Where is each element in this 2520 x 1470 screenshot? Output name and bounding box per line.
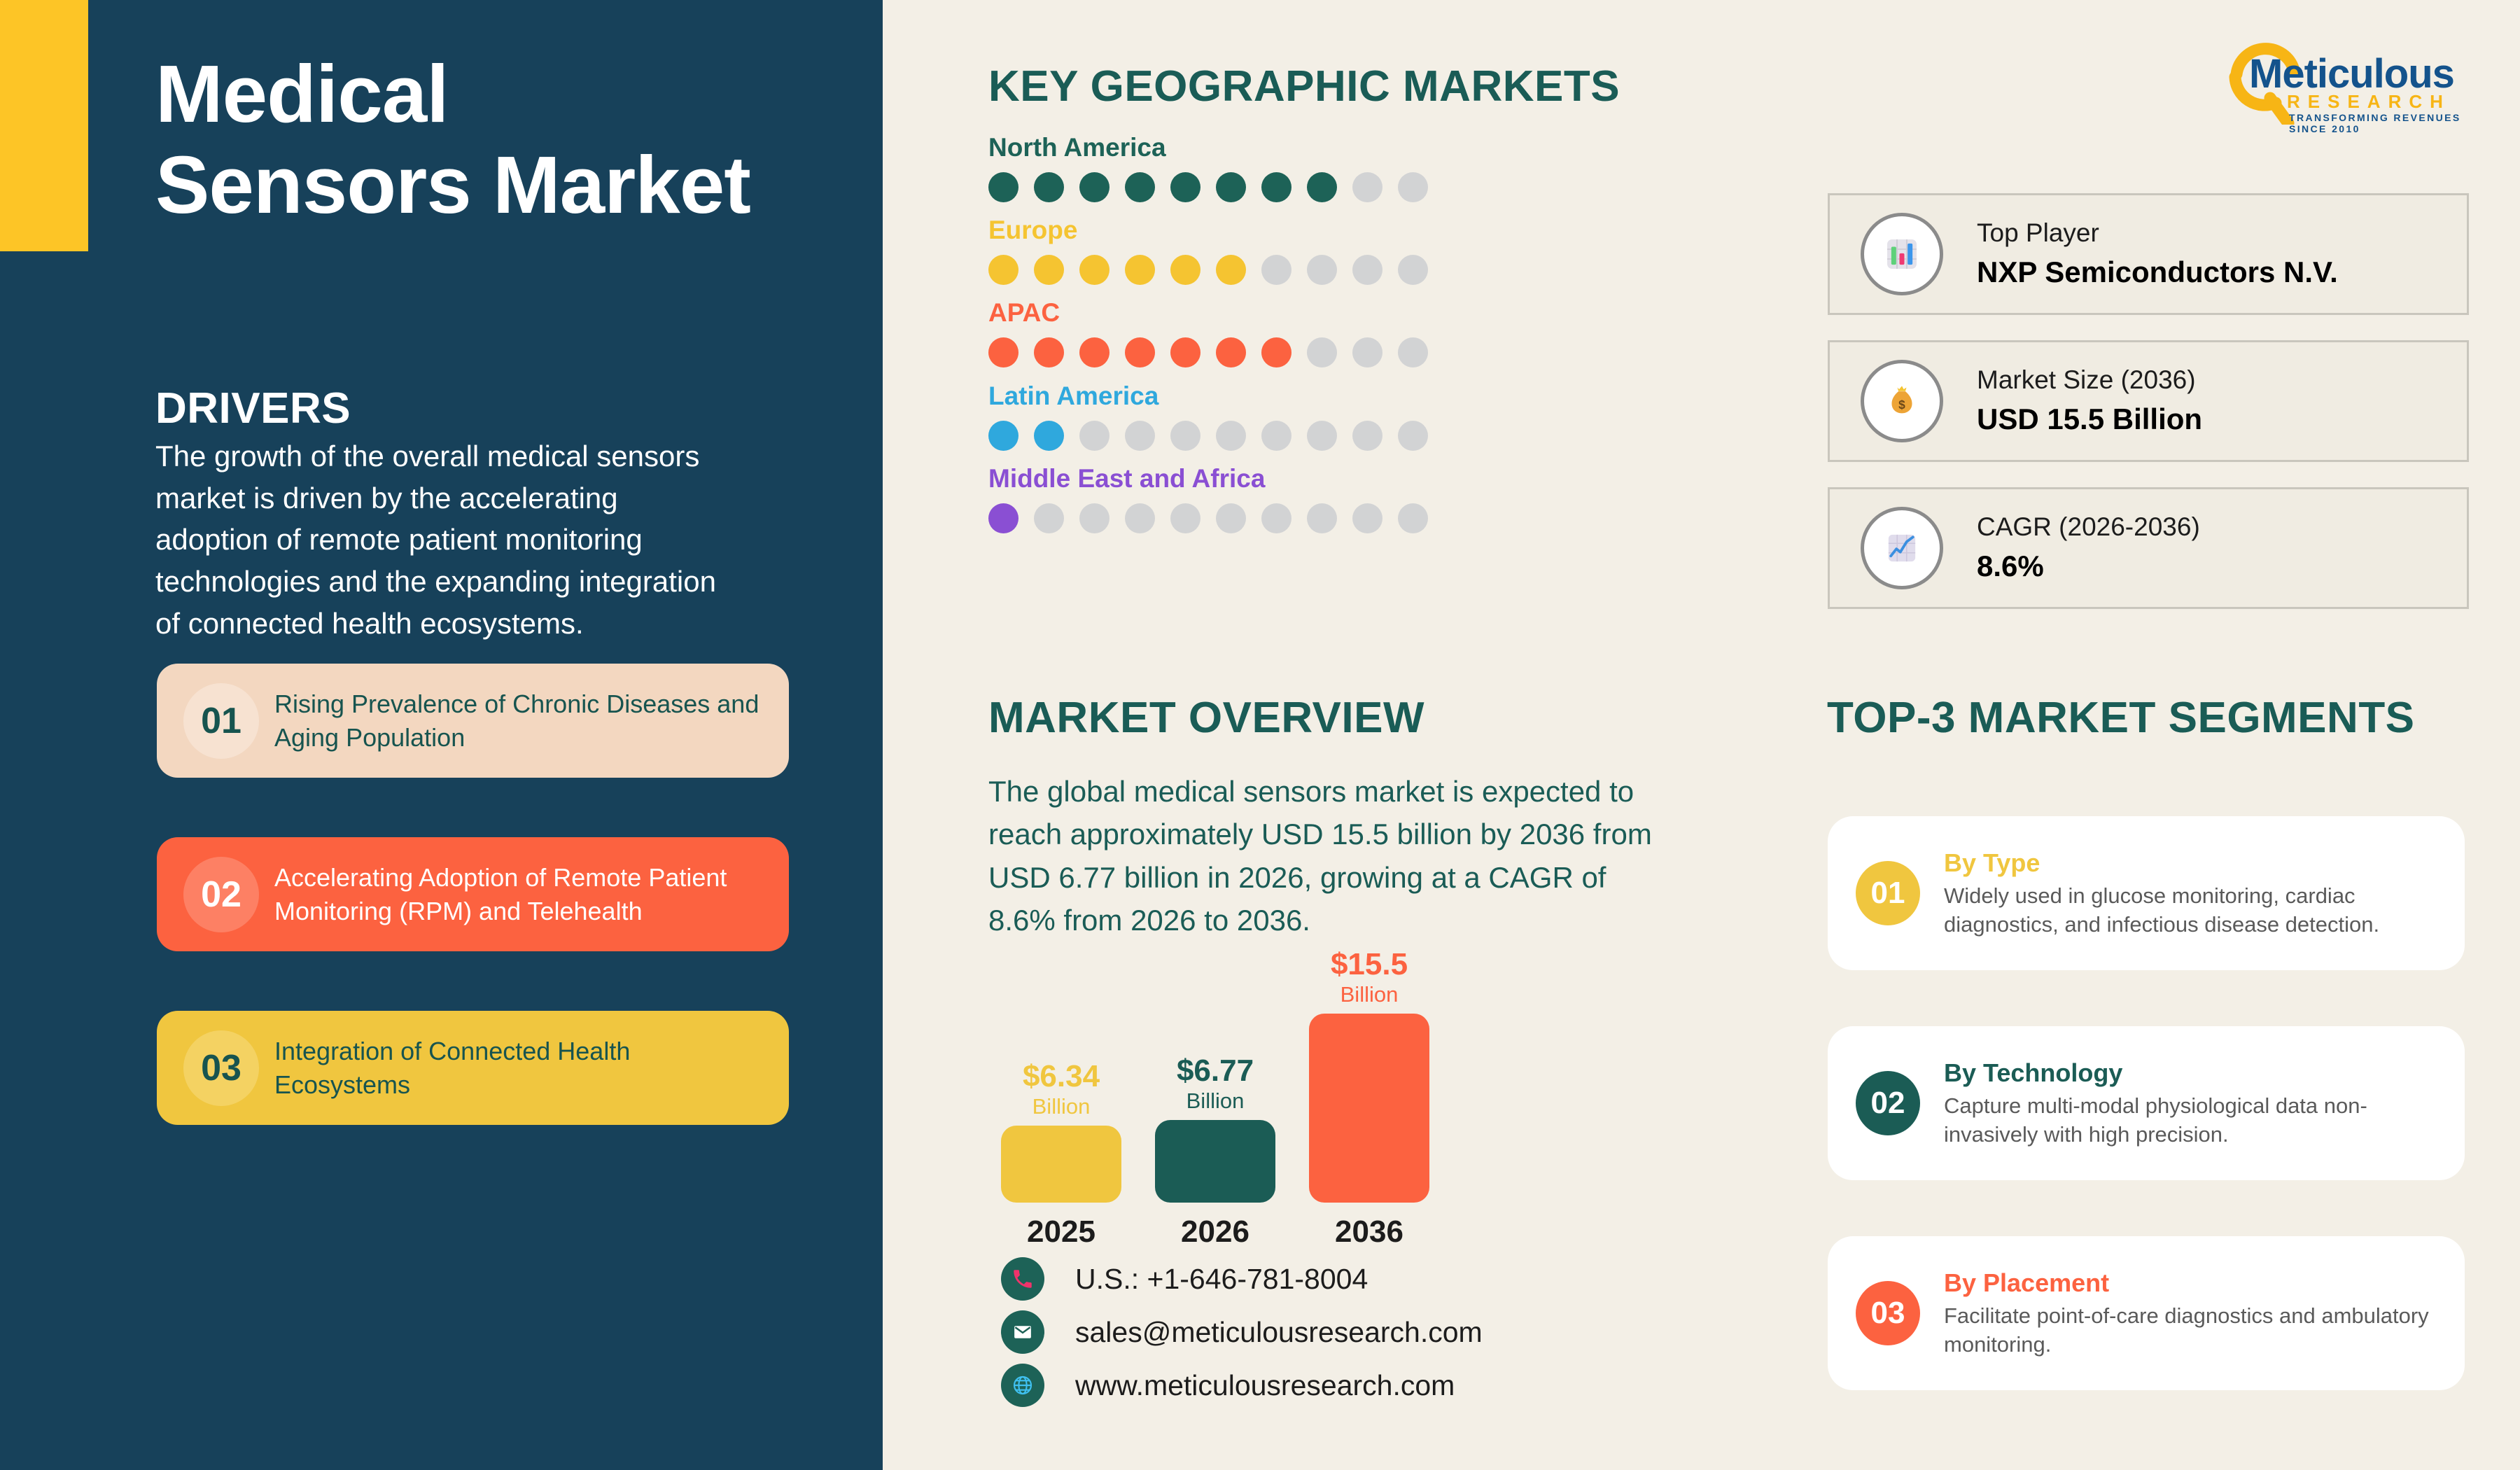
region-label: Latin America [988,381,1618,411]
region-label: APAC [988,298,1618,328]
phone-icon [1001,1257,1044,1301]
region-block-apac: APAC [988,298,1618,367]
stat-card-cagr[interactable]: CAGR (2026-2036) 8.6% [1828,487,2469,609]
contact-email-text: sales@meticulousresearch.com [1075,1316,1483,1349]
stat-card-market-size[interactable]: $ Market Size (2036) USD 15.5 Billion [1828,340,2469,462]
dot-filled [1216,255,1246,285]
region-block-latin-america: Latin America [988,381,1618,451]
segment-card-01[interactable]: 01By TypeWidely used in glucose monitori… [1828,816,2465,970]
stat-value-cagr: 8.6% [1977,547,2200,586]
bar-unit: Billion [1177,1090,1254,1112]
dot-filled [1125,255,1155,285]
driver-number-2: 02 [183,857,259,932]
contact-phone[interactable]: U.S.: +1-646-781-8004 [1001,1257,1368,1301]
dot-empty [1352,172,1382,202]
bar [1001,1126,1121,1203]
dot-filled [988,172,1018,202]
stat-label-top-player: Top Player [1977,217,2338,249]
dot-filled [988,255,1018,285]
accent-bar [0,0,88,251]
bar-group: $6.34Billion [1001,1061,1121,1203]
region-dot-scale [988,421,1618,451]
bar-value: $6.77 [1177,1056,1254,1086]
region-block-europe: Europe [988,216,1618,285]
region-label: Middle East and Africa [988,464,1618,493]
mail-icon [1001,1310,1044,1354]
drivers-heading: DRIVERS [155,384,351,433]
bar-value: $6.34 [1023,1061,1100,1092]
dot-filled [1125,172,1155,202]
left-panel: Medical Sensors Market DRIVERS The growt… [0,0,883,1470]
segment-number: 02 [1856,1071,1920,1135]
svg-text:$: $ [1898,398,1905,412]
dot-empty [1398,503,1428,533]
dot-empty [1034,503,1064,533]
segment-card-03[interactable]: 03By PlacementFacilitate point-of-care d… [1828,1236,2465,1390]
segment-description: Widely used in glucose monitoring, cardi… [1944,882,2444,939]
segment-heading: By Type [1944,848,2444,878]
driver-text-3: Integration of Connected Health Ecosyste… [274,1035,769,1102]
segment-heading: By Placement [1944,1268,2444,1298]
contact-phone-text: U.S.: +1-646-781-8004 [1075,1263,1368,1296]
dot-empty [1352,503,1382,533]
dot-filled [1261,337,1291,367]
contact-website-text: www.meticulousresearch.com [1075,1369,1455,1402]
driver-card-1[interactable]: 01 Rising Prevalence of Chronic Diseases… [157,664,789,778]
bar-category-label: 2026 [1155,1214,1275,1249]
region-dot-scale [988,503,1618,533]
dot-filled [988,503,1018,533]
segment-number: 01 [1856,861,1920,925]
segment-card-02[interactable]: 02By TechnologyCapture multi-modal physi… [1828,1026,2465,1180]
money-bag-icon: $ [1861,360,1943,442]
stat-value-market-size: USD 15.5 Billion [1977,400,2202,439]
logo-tagline: TRANSFORMING REVENUES SINCE 2010 [2289,112,2474,134]
infographic-canvas: Medical Sensors Market DRIVERS The growt… [0,0,2520,1470]
meticulous-research-logo: Meticulous RESEARCH TRANSFORMING REVENUE… [2215,34,2474,125]
geographic-markets-title: KEY GEOGRAPHIC MARKETS [988,62,1620,111]
bar-chart-icon [1861,213,1943,295]
market-overview-text: The global medical sensors market is exp… [988,770,1660,941]
dot-empty [1307,421,1337,451]
dot-empty [1352,337,1382,367]
stat-text-cagr: CAGR (2026-2036) 8.6% [1977,511,2200,586]
driver-number-1: 01 [183,683,259,759]
bar-group: $6.77Billion [1155,1056,1275,1203]
bar-value: $15.5 [1331,949,1408,980]
bar-unit: Billion [1023,1095,1100,1117]
region-block-middle-east-and-africa: Middle East and Africa [988,464,1618,533]
bar-value-label: $6.77Billion [1177,1056,1254,1112]
dot-filled [1216,337,1246,367]
dot-filled [1034,172,1064,202]
dot-filled [1079,255,1109,285]
globe-icon [1001,1364,1044,1407]
bar-category-label: 2036 [1309,1214,1429,1249]
dot-empty [1307,255,1337,285]
stat-card-top-player[interactable]: Top Player NXP Semiconductors N.V. [1828,193,2469,315]
bar-group: $15.5Billion [1309,949,1429,1203]
stat-label-cagr: CAGR (2026-2036) [1977,511,2200,543]
segment-text: By PlacementFacilitate point-of-care dia… [1944,1268,2444,1359]
region-block-north-america: North America [988,133,1618,202]
stat-text-market-size: Market Size (2036) USD 15.5 Billion [1977,364,2202,439]
dot-empty [1216,421,1246,451]
dot-empty [1307,503,1337,533]
market-overview-title: MARKET OVERVIEW [988,693,1424,743]
segment-description: Facilitate point-of-care diagnostics and… [1944,1302,2444,1359]
trending-up-icon [1861,507,1943,589]
dot-empty [1079,421,1109,451]
dot-filled [1216,172,1246,202]
contact-website[interactable]: www.meticulousresearch.com [1001,1364,1455,1407]
stat-label-market-size: Market Size (2036) [1977,364,2202,396]
bar [1155,1120,1275,1203]
drivers-description: The growth of the overall medical sensor… [155,435,736,644]
bar-value-label: $15.5Billion [1331,949,1408,1005]
dot-filled [988,421,1018,451]
dot-filled [1079,337,1109,367]
page-title: Medical Sensors Market [155,49,785,231]
dot-empty [1216,503,1246,533]
driver-number-3: 03 [183,1030,259,1106]
dot-filled [1034,255,1064,285]
driver-card-3[interactable]: 03 Integration of Connected Health Ecosy… [157,1011,789,1125]
dot-filled [1170,337,1200,367]
dot-filled [1079,172,1109,202]
bar-value-label: $6.34Billion [1023,1061,1100,1117]
segment-number: 03 [1856,1281,1920,1345]
dot-filled [1034,337,1064,367]
dot-empty [1125,421,1155,451]
dot-empty [1170,503,1200,533]
segment-text: By TechnologyCapture multi-modal physiol… [1944,1058,2444,1149]
segments-title: TOP-3 MARKET SEGMENTS [1827,693,2415,743]
dot-empty [1398,421,1428,451]
segment-description: Capture multi-modal physiological data n… [1944,1092,2444,1149]
dot-empty [1307,337,1337,367]
dot-empty [1079,503,1109,533]
dot-empty [1398,255,1428,285]
dot-empty [1261,255,1291,285]
driver-text-1: Rising Prevalence of Chronic Diseases an… [274,687,769,755]
region-dot-scale [988,255,1618,285]
dot-empty [1261,503,1291,533]
logo-name: Meticulous [2249,50,2454,97]
logo-subtitle: RESEARCH [2287,91,2451,113]
segment-heading: By Technology [1944,1058,2444,1088]
bar-unit: Billion [1331,983,1408,1005]
dot-filled [1307,172,1337,202]
dot-empty [1170,421,1200,451]
region-label: North America [988,133,1618,162]
stat-value-top-player: NXP Semiconductors N.V. [1977,253,2338,292]
driver-text-2: Accelerating Adoption of Remote Patient … [274,861,769,928]
driver-card-2[interactable]: 02 Accelerating Adoption of Remote Patie… [157,837,789,951]
dot-empty [1398,337,1428,367]
dot-filled [1261,172,1291,202]
dot-empty [1398,172,1428,202]
bar [1309,1014,1429,1203]
dot-filled [988,337,1018,367]
dot-empty [1352,421,1382,451]
dot-empty [1125,503,1155,533]
dot-filled [1125,337,1155,367]
contact-email[interactable]: sales@meticulousresearch.com [1001,1310,1483,1354]
region-dot-scale [988,337,1618,367]
stat-text-top-player: Top Player NXP Semiconductors N.V. [1977,217,2338,292]
region-dot-scale [988,172,1618,202]
region-label: Europe [988,216,1618,245]
market-size-bar-chart: $6.34Billion$6.77Billion$15.5Billion [994,966,1512,1246]
dot-empty [1352,255,1382,285]
segment-text: By TypeWidely used in glucose monitoring… [1944,848,2444,939]
bar-category-label: 2025 [1001,1214,1121,1249]
dot-filled [1170,172,1200,202]
dot-filled [1170,255,1200,285]
dot-filled [1034,421,1064,451]
dot-empty [1261,421,1291,451]
